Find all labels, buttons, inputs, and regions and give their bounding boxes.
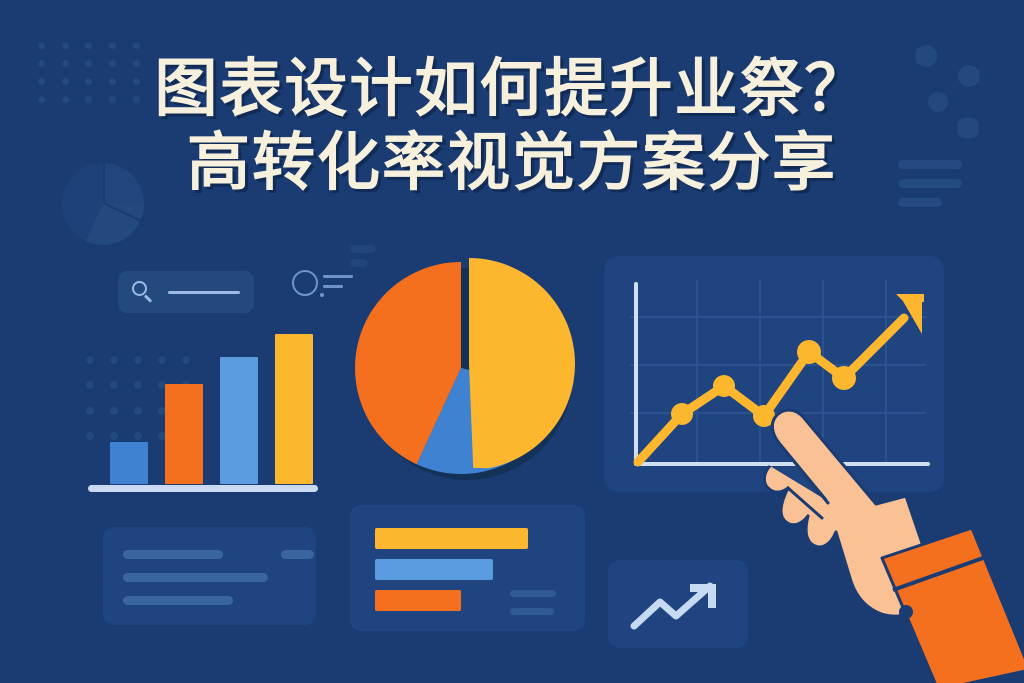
bar-item [165, 384, 203, 484]
search-input[interactable] [118, 271, 254, 313]
hbar-legend-line [510, 590, 556, 597]
bar-chart [88, 330, 318, 492]
poster-canvas: 图表设计如何提升业祭？ 高转化率视觉方案分享 [0, 0, 1024, 683]
line-chart-point [671, 403, 693, 425]
search-placeholder-line [168, 291, 240, 294]
trend-icon-card [608, 560, 748, 648]
poster-title: 图表设计如何提升业祭？ 高转化率视觉方案分享 [0, 52, 1024, 200]
hbar-item [375, 559, 493, 580]
horizontal-bar-card [350, 505, 585, 631]
sleeve-button [899, 605, 913, 619]
hbar-legend-line [510, 608, 554, 615]
bar-item [275, 334, 313, 484]
pie-chart [355, 258, 575, 483]
bar-chart-bars [88, 334, 318, 484]
title-line-2: 高转化率视觉方案分享 [0, 126, 1024, 200]
bar-item [220, 357, 258, 484]
placeholder-line [123, 550, 223, 559]
bar-item [110, 442, 148, 484]
pointing-hand-illustration [730, 400, 1024, 683]
placeholder-line-short [281, 550, 314, 559]
line-chart-point [713, 375, 735, 397]
text-placeholder-card [103, 527, 316, 625]
donut-chart-icon [292, 266, 354, 300]
line-chart-point [797, 340, 821, 364]
title-line-1: 图表设计如何提升业祭？ [0, 52, 1024, 126]
trending-up-icon [628, 578, 728, 633]
line-chart-point [832, 366, 856, 390]
orange-sleeve [882, 528, 1024, 683]
hbar-item [375, 528, 528, 549]
placeholder-line [123, 596, 233, 605]
hbar-item [375, 590, 461, 611]
search-icon [132, 281, 154, 303]
bar-chart-baseline [88, 485, 318, 492]
placeholder-line [123, 573, 268, 582]
